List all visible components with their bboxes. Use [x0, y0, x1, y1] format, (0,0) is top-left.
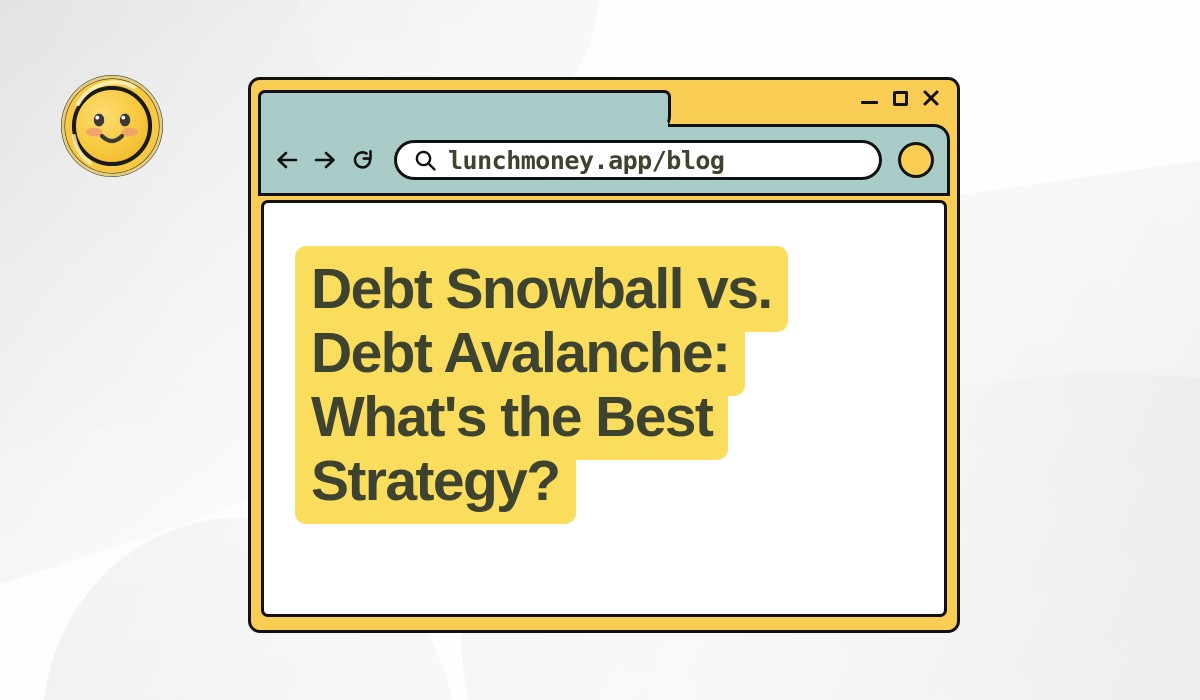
reload-button[interactable] [350, 145, 376, 175]
address-bar[interactable]: lunchmoney.app/blog [394, 140, 882, 180]
tab-seam-cover [261, 122, 668, 128]
screenshot-canvas: lunchmoney.app/blog Debt Snowball vs. De… [0, 0, 1200, 700]
search-icon [414, 149, 437, 172]
browser-toolbar: lunchmoney.app/blog [258, 124, 950, 196]
forward-button[interactable] [312, 145, 338, 175]
page-content: Debt Snowball vs. Debt Avalanche: What's… [261, 200, 947, 617]
minimize-button[interactable] [860, 89, 878, 107]
headline-line-1: Debt Snowball vs. [297, 260, 944, 318]
headline-line-3: What's the Best [297, 388, 944, 446]
maximize-icon [893, 91, 908, 106]
arrow-right-icon [312, 149, 338, 171]
address-bar-url: lunchmoney.app/blog [448, 146, 724, 175]
close-icon [922, 89, 940, 107]
profile-avatar[interactable] [898, 142, 934, 178]
minimize-icon [861, 101, 878, 104]
browser-window: lunchmoney.app/blog Debt Snowball vs. De… [248, 77, 960, 633]
maximize-button[interactable] [891, 89, 909, 107]
headline-line-4: Strategy? [297, 452, 944, 510]
arrow-left-icon [274, 149, 300, 171]
headline-line-2: Debt Avalanche: [297, 324, 944, 382]
back-button[interactable] [274, 145, 300, 175]
reload-icon [351, 148, 375, 172]
coin-mascot-icon [56, 70, 168, 182]
window-controls [860, 80, 957, 107]
close-button[interactable] [922, 89, 940, 107]
article-headline: Debt Snowball vs. Debt Avalanche: What's… [264, 203, 944, 511]
